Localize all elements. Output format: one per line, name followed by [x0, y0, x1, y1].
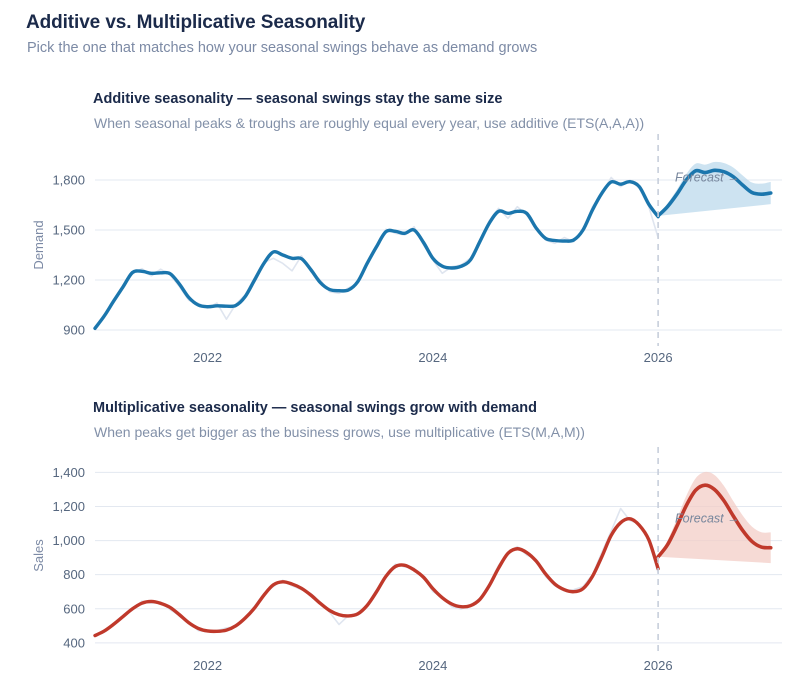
x-tick-label: 2026 — [644, 658, 673, 673]
y-axis-label: Sales — [31, 539, 46, 572]
fitted-series-line — [95, 519, 658, 636]
y-tick-label: 400 — [63, 635, 85, 650]
seasonality-comparison-page: Additive vs. Multiplicative Seasonality … — [0, 0, 800, 700]
y-tick-label: 1,000 — [52, 533, 85, 548]
forecast-annotation: Forecast → — [675, 512, 740, 526]
y-tick-label: 800 — [63, 567, 85, 582]
x-tick-label: 2022 — [193, 658, 222, 673]
y-tick-label: 1,400 — [52, 465, 85, 480]
x-tick-label: 2024 — [418, 658, 447, 673]
y-tick-label: 600 — [63, 601, 85, 616]
y-tick-label: 1,200 — [52, 499, 85, 514]
chart-multiplicative-seasonality: 4006008001,0001,2001,400Sales20222024202… — [0, 0, 800, 700]
